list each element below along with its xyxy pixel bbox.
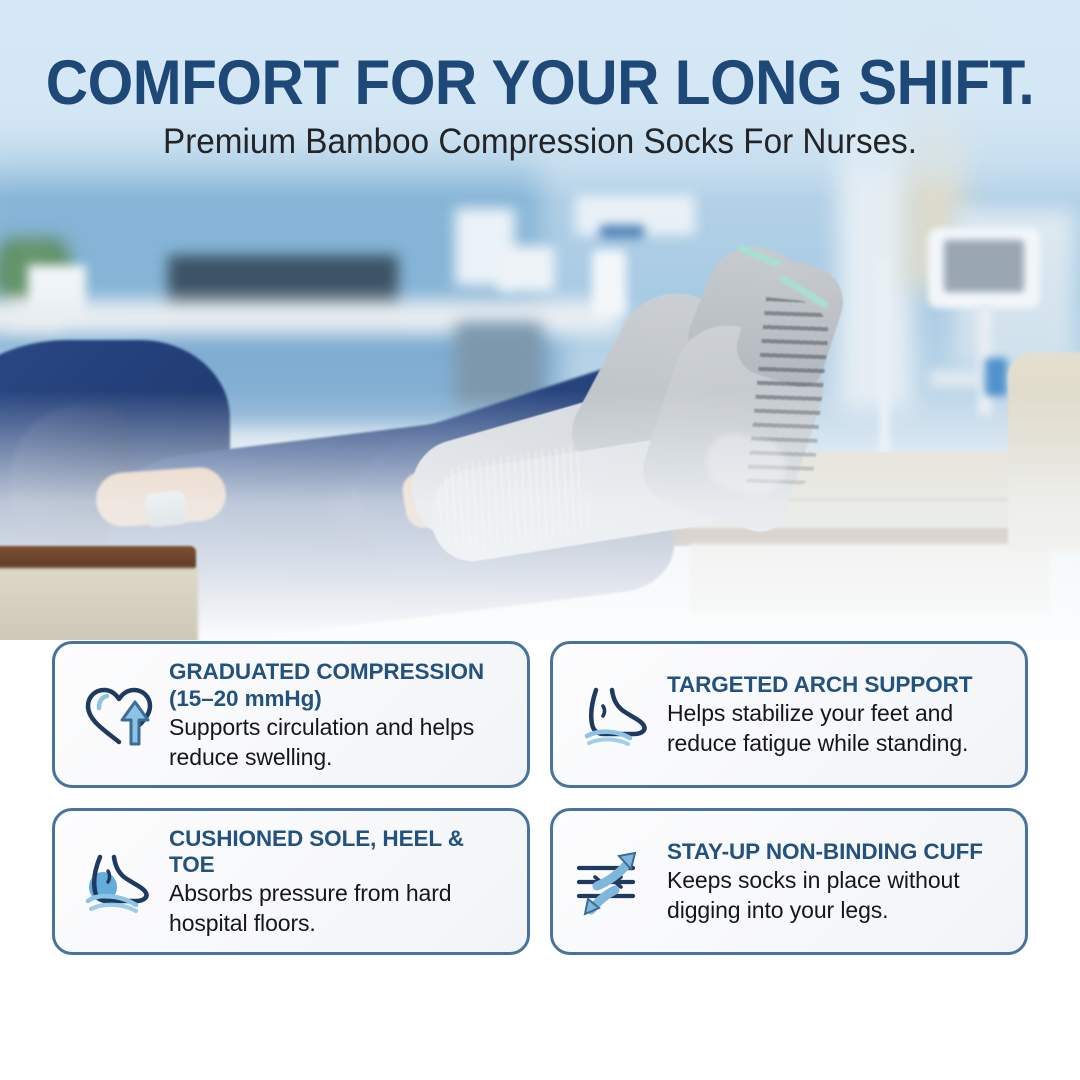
foot-cushion-heel-icon: [69, 834, 165, 930]
feature-card-text: STAY-UP NON-BINDING CUFF Keeps socks in …: [663, 839, 1015, 925]
medical-monitor-screen: [944, 240, 1024, 292]
feature-card-title: TARGETED ARCH SUPPORT: [667, 671, 1013, 698]
heart-up-arrow-icon: [69, 667, 165, 763]
foot-arch-icon: [567, 667, 663, 763]
feature-card-stay-up-cuff: STAY-UP NON-BINDING CUFF Keeps socks in …: [550, 808, 1028, 955]
feature-card-text: GRADUATED COMPRESSION (15–20 mmHg) Suppo…: [165, 658, 517, 772]
wall-sign-accent: [600, 225, 644, 239]
wall-dispenser-box: [497, 246, 555, 292]
feature-card-grid: GRADUATED COMPRESSION (15–20 mmHg) Suppo…: [52, 641, 1028, 955]
product-infographic: COMFORT FOR YOUR LONG SHIFT. Premium Bam…: [0, 0, 1080, 1080]
sanitizer-dispenser: [592, 250, 626, 316]
feature-card-text: TARGETED ARCH SUPPORT Helps stabilize yo…: [663, 671, 1015, 758]
feature-card-text: CUSHIONED SOLE, HEEL & TOE Absorbs press…: [165, 826, 517, 938]
feature-card-body: Helps stabilize your feet and reduce fat…: [667, 698, 1013, 758]
feature-card-arch-support: TARGETED ARCH SUPPORT Helps stabilize yo…: [550, 641, 1028, 788]
page-title: COMFORT FOR YOUR LONG SHIFT.: [38, 50, 1042, 116]
chair-arm-cushion: [0, 568, 198, 640]
stretch-arrows-icon: [567, 834, 663, 930]
feature-card-title: GRADUATED COMPRESSION (15–20 mmHg): [169, 658, 515, 712]
feature-card-cushioned-sole: CUSHIONED SOLE, HEEL & TOE Absorbs press…: [52, 808, 530, 955]
feature-card-title: STAY-UP NON-BINDING CUFF: [667, 839, 1013, 865]
feature-card-graduated-compression: GRADUATED COMPRESSION (15–20 mmHg) Suppo…: [52, 641, 530, 788]
feature-card-body: Supports circulation and helps reduce sw…: [169, 712, 515, 772]
feature-card-title: CUSHIONED SOLE, HEEL & TOE: [169, 826, 515, 878]
page-subtitle: Premium Bamboo Compression Socks For Nur…: [27, 120, 1053, 164]
feature-card-body: Absorbs pressure from hard hospital floo…: [169, 878, 515, 938]
feature-card-body: Keeps socks in place without digging int…: [667, 865, 1013, 925]
